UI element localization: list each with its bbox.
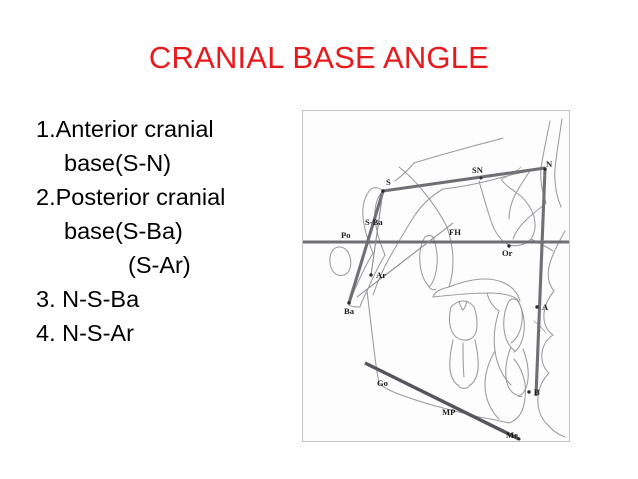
landmark-label-a: A (542, 302, 549, 312)
landmark-label-s: S (386, 177, 391, 187)
landmark-label-or: Or (502, 248, 513, 258)
cephalometric-tracing-figure: S SN N S-Ba Po FH Or Ar Ba A Go B MP Me (302, 110, 570, 442)
landmark-label-n: N (546, 159, 553, 169)
nasal-structures-trace (420, 236, 438, 290)
landmark-label-ba: Ba (344, 306, 355, 316)
maxilla-trace (433, 279, 522, 343)
list-item: 1.Anterior cranial (36, 112, 294, 146)
molar-teeth-trace (450, 301, 479, 388)
landmark-label-sn: SN (472, 165, 484, 175)
soft-tissue-profile-trace (531, 231, 565, 437)
cranial-vault-trace (395, 119, 562, 207)
landmark-dot-ba (347, 301, 350, 304)
landmark-dot-s (381, 189, 384, 192)
landmark-label-me: Me (506, 430, 518, 440)
landmark-label-go: Go (377, 378, 388, 388)
landmark-label-po: Po (341, 230, 351, 240)
landmark-label-mp: MP (442, 407, 455, 417)
list-item: 3. N-S-Ba (36, 282, 294, 316)
sn-line (383, 168, 545, 191)
list-item: (S-Ar) (36, 248, 294, 282)
bullet-list: 1.Anterior cranial base(S-N) 2.Posterior… (36, 112, 294, 350)
landmark-dot-b (527, 390, 530, 393)
landmark-label-fh: FH (449, 227, 461, 237)
page-title: CRANIAL BASE ANGLE (0, 41, 638, 75)
landmark-label-ar: Ar (376, 270, 386, 280)
n-vertical-line (536, 169, 545, 396)
list-item: base(S-N) (36, 146, 294, 180)
landmark-dot-sn (480, 177, 483, 180)
landmark-label-b: B (534, 387, 540, 397)
s-ba-line (349, 191, 383, 303)
landmark-dot-ar (369, 273, 372, 276)
list-item: base(S-Ba) (36, 214, 294, 248)
landmark-dot-a (535, 305, 538, 308)
porion-trace (330, 247, 351, 275)
landmark-label-s-ba: S-Ba (365, 217, 383, 227)
landmark-dot-me (518, 438, 521, 441)
list-item: 4. N-S-Ar (36, 316, 294, 350)
cephalometric-tracing-svg: S SN N S-Ba Po FH Or Ar Ba A Go B MP Me (303, 111, 569, 441)
mandibular-plane-line (365, 363, 519, 439)
list-item: 2.Posterior cranial (36, 180, 294, 214)
